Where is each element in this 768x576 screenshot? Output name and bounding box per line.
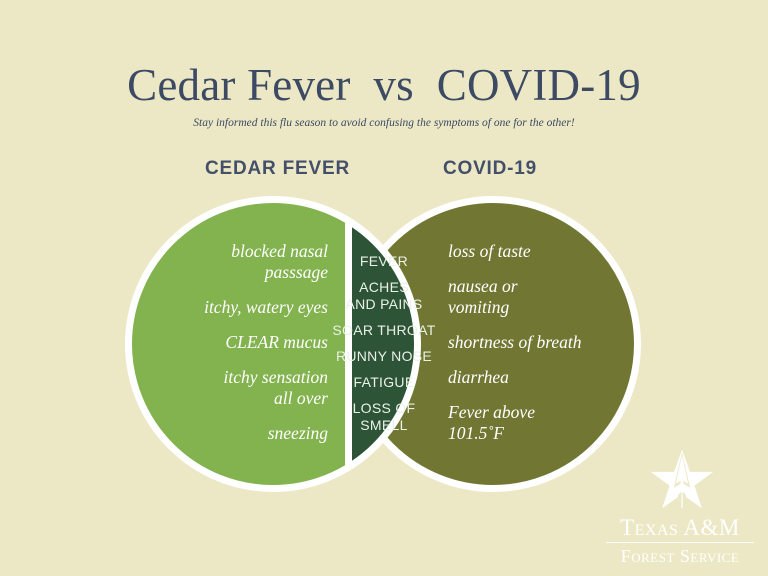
symptom-item: diarrhea	[448, 367, 628, 388]
symptom-item: ACHESAND PAINS	[329, 279, 439, 313]
infographic-canvas: Cedar Fever vs COVID-19 Stay informed th…	[0, 0, 768, 576]
symptom-item: SOAR THROAT	[329, 322, 439, 339]
logo-wordmark: Texas A&M Forest Service	[596, 514, 764, 567]
symptom-item: shortness of breath	[448, 332, 628, 353]
symptom-item: CLEAR mucus	[150, 332, 328, 353]
symptom-item: sneezing	[150, 423, 328, 444]
symptom-item: loss of taste	[448, 241, 628, 262]
covid19-symptom-list: loss of tastenausea orvomitingshortness …	[448, 241, 628, 444]
symptom-item: nausea orvomiting	[448, 276, 628, 318]
texas-am-forest-service-logo: Texas A&M Forest Service	[596, 448, 764, 560]
symptom-item: itchy, watery eyes	[150, 297, 328, 318]
shared-symptom-list: FEVERACHESAND PAINSSOAR THROATRUNNY NOSE…	[329, 253, 439, 434]
logo-line-texas-am: Texas A&M	[596, 514, 764, 541]
symptom-item: itchy sensationall over	[150, 367, 328, 409]
symptom-item: FATIGUE	[329, 374, 439, 391]
symptom-item: blocked nasalpasssage	[150, 241, 328, 283]
symptom-item: LOSS OFSMELL	[329, 400, 439, 434]
symptom-item: RUNNY NOSE	[329, 348, 439, 365]
symptom-item: FEVER	[329, 253, 439, 270]
logo-divider	[606, 542, 754, 543]
cedar-fever-symptom-list: blocked nasalpasssageitchy, watery eyesC…	[150, 241, 328, 444]
symptom-item: Fever above101.5˚F	[448, 402, 628, 444]
star-with-tree-icon	[648, 448, 716, 514]
logo-line-forest-service: Forest Service	[596, 546, 764, 567]
